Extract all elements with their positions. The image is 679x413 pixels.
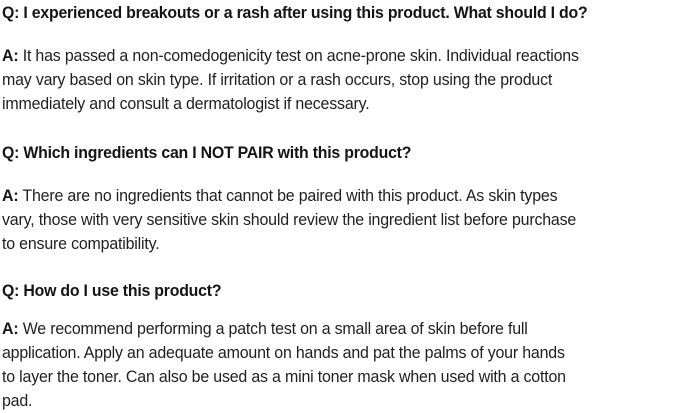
question-body-suffix: with this product?: [273, 143, 411, 162]
answer-line: application. Apply an adequate amount on…: [2, 341, 653, 365]
question-text: Q: How do I use this product?: [2, 279, 649, 303]
question-lead-label: Q:: [2, 143, 19, 162]
answer-lead-label: A:: [2, 186, 18, 205]
question-lead-label: Q:: [2, 281, 19, 300]
question-text: Q: I experienced breakouts or a rash aft…: [2, 1, 649, 25]
answer-text: A: We recommend performing a patch test …: [2, 317, 653, 413]
answer-line: vary, those with very sensitive skin sho…: [2, 208, 653, 232]
answer-line-text: We recommend performing a patch test on …: [18, 319, 527, 338]
answer-line: A: It has passed a non-comedogenicity te…: [2, 44, 653, 68]
answer-line: immediately and consult a dermatologist …: [2, 92, 653, 116]
question-body: How do I use this product?: [19, 281, 221, 300]
faq-question-not-pair-ingredients: Q: Which ingredients can I NOT PAIR with…: [2, 141, 679, 165]
answer-line: A: We recommend performing a patch test …: [2, 317, 653, 341]
answer-line-text: It has passed a non-comedogenicity test …: [18, 46, 578, 65]
answer-line-text: There are no ingredients that cannot be …: [18, 186, 557, 205]
faq-answer-breakouts-rash: A: It has passed a non-comedogenicity te…: [2, 44, 679, 116]
answer-line: to ensure compatibility.: [2, 232, 653, 256]
question-lead-label: Q:: [2, 3, 19, 22]
faq-question-breakouts-rash: Q: I experienced breakouts or a rash aft…: [2, 1, 679, 25]
answer-lead-label: A:: [2, 46, 18, 65]
faq-question-how-to-use: Q: How do I use this product?: [2, 279, 679, 303]
faq-answer-how-to-use: A: We recommend performing a patch test …: [2, 317, 679, 413]
question-text: Q: Which ingredients can I NOT PAIR with…: [2, 141, 649, 165]
question-body-prefix: Which ingredients can I: [19, 143, 200, 162]
faq-document: Q: I experienced breakouts or a rash aft…: [0, 0, 679, 410]
answer-line: pad.: [2, 389, 653, 413]
answer-lead-label: A:: [2, 319, 18, 338]
answer-text: A: There are no ingredients that cannot …: [2, 184, 653, 256]
answer-line: A: There are no ingredients that cannot …: [2, 184, 653, 208]
faq-answer-not-pair-ingredients: A: There are no ingredients that cannot …: [2, 184, 679, 256]
answer-line: to layer the toner. Can also be used as …: [2, 365, 653, 389]
question-emphasis: NOT PAIR: [201, 143, 274, 162]
question-body: I experienced breakouts or a rash after …: [19, 3, 587, 22]
answer-line: may vary based on skin type. If irritati…: [2, 68, 653, 92]
answer-text: A: It has passed a non-comedogenicity te…: [2, 44, 653, 116]
